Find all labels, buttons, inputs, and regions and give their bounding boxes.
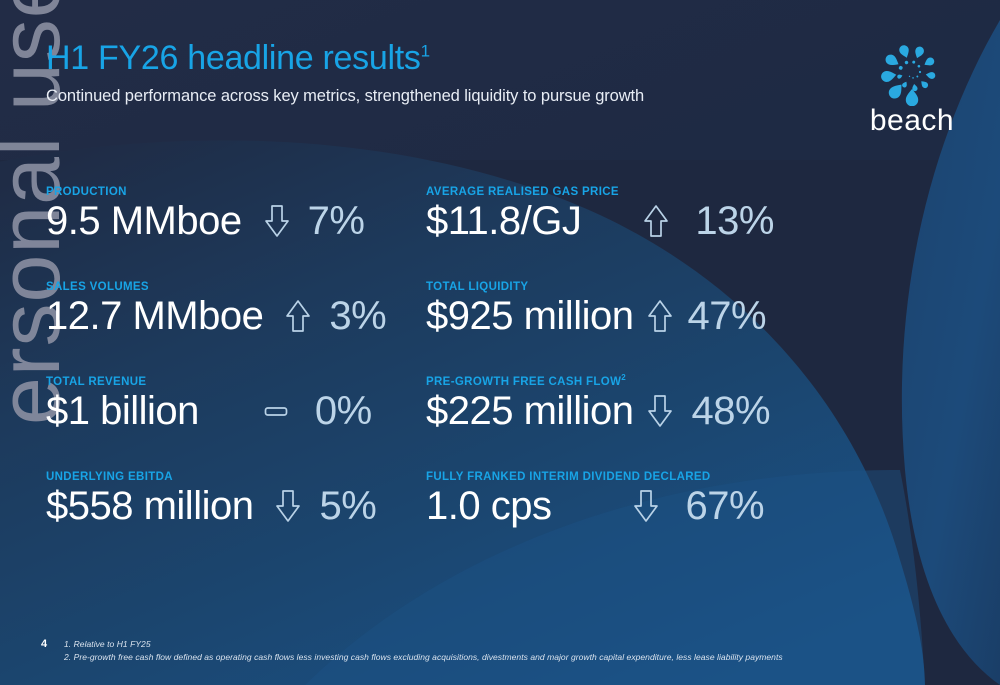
metric-delta: 48%	[691, 389, 770, 434]
header: H1 FY26 headline results1 Continued perf…	[46, 40, 644, 106]
metric-label: TOTAL REVENUE	[46, 376, 426, 388]
metric-delta: 5%	[319, 484, 376, 529]
metric-label: FULLY FRANKED INTERIM DIVIDEND DECLARED	[426, 471, 806, 483]
arrow-down-icon	[271, 485, 305, 527]
metric-delta: 3%	[329, 294, 386, 339]
page-title: H1 FY26 headline results1	[46, 40, 644, 77]
beach-spiral-droplets-icon	[852, 38, 972, 106]
metric-value: $1 billion	[46, 389, 199, 434]
page-subtitle: Continued performance across key metrics…	[46, 87, 644, 106]
arrow-down-icon	[260, 200, 294, 242]
metric-label: PRE-GROWTH FREE CASH FLOW2	[426, 376, 806, 388]
metric-row: 9.5 MMboe 7%	[46, 199, 426, 244]
metric-delta: 13%	[695, 199, 774, 244]
metric-label-text: UNDERLYING EBITDA	[46, 471, 173, 483]
metric-underlying-ebitda: UNDERLYING EBITDA $558 million 5%	[46, 471, 426, 566]
page-title-superscript: 1	[421, 42, 430, 61]
arrow-down-icon	[629, 485, 663, 527]
metric-total-liquidity: TOTAL LIQUIDITY $925 million 47%	[426, 281, 806, 376]
metric-row: $925 million 47%	[426, 294, 806, 339]
metric-pre-growth-free-cash-flow: PRE-GROWTH FREE CASH FLOW2 $225 million …	[426, 376, 806, 471]
metric-delta: 7%	[308, 199, 365, 244]
metric-total-revenue: TOTAL REVENUE $1 billion 0%	[46, 376, 426, 471]
metric-value: $11.8/GJ	[426, 199, 581, 244]
dash-flat-icon	[259, 390, 293, 432]
metric-label-text: TOTAL LIQUIDITY	[426, 281, 528, 293]
metric-label-superscript: 2	[621, 373, 626, 382]
brand-logo: beach	[852, 38, 972, 138]
arrow-up-icon	[643, 295, 677, 337]
metric-row: 1.0 cps 67%	[426, 484, 806, 529]
metric-row: $11.8/GJ 13%	[426, 199, 806, 244]
metric-label-text: TOTAL REVENUE	[46, 376, 146, 388]
metric-delta: 67%	[685, 484, 764, 529]
metric-delta: 47%	[687, 294, 766, 339]
metric-delta: 0%	[315, 389, 372, 434]
metric-value: 12.7 MMboe	[46, 294, 263, 339]
metric-sales-volumes: SALES VOLUMES 12.7 MMboe 3%	[46, 281, 426, 376]
arrow-up-icon	[281, 295, 315, 337]
page-title-text: H1 FY26 headline results	[46, 39, 421, 77]
metric-label-text: PRODUCTION	[46, 186, 127, 198]
arrow-up-icon	[639, 200, 673, 242]
logo-wordmark: beach	[852, 104, 972, 138]
footnote-2: 2. Pre-growth free cash flow defined as …	[64, 651, 783, 664]
metric-value: 9.5 MMboe	[46, 199, 242, 244]
metric-production: PRODUCTION 9.5 MMboe 7%	[46, 186, 426, 281]
footnote-1: 1. Relative to H1 FY25	[64, 638, 783, 651]
metric-label: AVERAGE REALISED GAS PRICE	[426, 186, 806, 198]
metric-row: $1 billion 0%	[46, 389, 426, 434]
metric-average-realised-gas-price: AVERAGE REALISED GAS PRICE $11.8/GJ 13%	[426, 186, 806, 281]
metric-label-text: AVERAGE REALISED GAS PRICE	[426, 186, 619, 198]
metrics-grid: PRODUCTION 9.5 MMboe 7% AVERAGE REALISED…	[46, 186, 806, 566]
metric-label: SALES VOLUMES	[46, 281, 426, 293]
metric-label: TOTAL LIQUIDITY	[426, 281, 806, 293]
metric-label-text: FULLY FRANKED INTERIM DIVIDEND DECLARED	[426, 471, 711, 483]
metric-fully-franked-interim-dividend-declared: FULLY FRANKED INTERIM DIVIDEND DECLARED …	[426, 471, 806, 566]
footnotes: 1. Relative to H1 FY25 2. Pre-growth fre…	[64, 638, 783, 664]
metric-value: 1.0 cps	[426, 484, 551, 529]
arrow-down-icon	[643, 390, 677, 432]
slide-canvas: ersonal use only H1 FY26 headline result…	[0, 0, 1000, 685]
metric-value: $558 million	[46, 484, 253, 529]
metric-label-text: SALES VOLUMES	[46, 281, 149, 293]
metric-row: 12.7 MMboe 3%	[46, 294, 426, 339]
metric-row: $225 million 48%	[426, 389, 806, 434]
metric-label-text: PRE-GROWTH FREE CASH FLOW	[426, 376, 621, 388]
metric-value: $925 million	[426, 294, 633, 339]
metric-label: UNDERLYING EBITDA	[46, 471, 426, 483]
metric-value: $225 million	[426, 389, 633, 434]
page-number: 4	[41, 638, 47, 650]
metric-row: $558 million 5%	[46, 484, 426, 529]
metric-label: PRODUCTION	[46, 186, 426, 198]
